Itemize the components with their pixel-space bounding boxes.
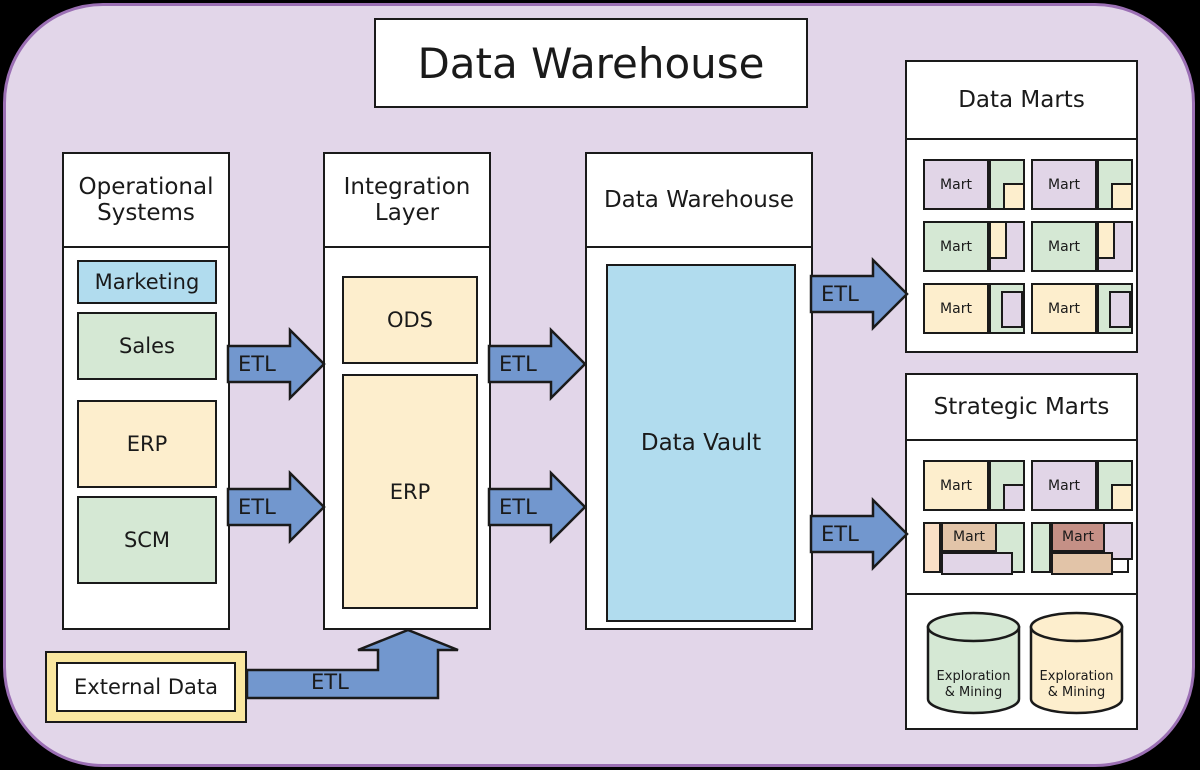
- mart-label: Mart: [1031, 283, 1097, 334]
- cylinder-label-line1: Exploration: [937, 669, 1011, 684]
- mart-bottom-block: [1051, 552, 1113, 575]
- data-warehouse-panel: Data Warehouse Data Vault: [585, 152, 813, 630]
- data-warehouse-body: Data Vault: [587, 248, 811, 628]
- diagram-canvas: Data Warehouse Operational Systems Marke…: [0, 0, 1200, 770]
- integration-layer-header: Integration Layer: [325, 154, 489, 248]
- etl-arrow-label: ETL: [499, 495, 537, 519]
- data-marts-header: Data Marts: [907, 62, 1136, 140]
- etl-arrow-integration-to-dw-bottom[interactable]: ETL: [489, 471, 587, 543]
- mart-inner: [1111, 183, 1133, 210]
- block-erp-integration[interactable]: ERP: [342, 374, 478, 609]
- mart-label: Mart: [1051, 522, 1105, 552]
- external-data-label: External Data: [56, 662, 236, 712]
- mart-label: Mart: [923, 460, 989, 511]
- mart-label: Mart: [923, 283, 989, 334]
- cylinder-label-line2: & Mining: [945, 685, 1002, 700]
- etl-arrow-label: ETL: [311, 670, 349, 694]
- page-title: Data Warehouse: [417, 39, 764, 88]
- mart-label: Mart: [923, 221, 989, 272]
- mart-label: Mart: [1031, 221, 1097, 272]
- cylinder-label-line2: & Mining: [1048, 685, 1105, 700]
- mart-left-strip: [923, 522, 941, 573]
- cylinder-exploration-mining-cream[interactable]: Exploration & Mining: [1029, 611, 1124, 715]
- mart-inner: [1111, 484, 1133, 511]
- cylinder-label: Exploration & Mining: [926, 669, 1021, 702]
- strategic-marts-header: Strategic Marts: [907, 375, 1136, 441]
- block-data-vault[interactable]: Data Vault: [606, 264, 796, 622]
- integration-layer-header-line1: Integration: [344, 174, 471, 200]
- data-marts-body: Mart Mart Mart Mart Mart: [907, 140, 1136, 351]
- block-sales[interactable]: Sales: [77, 312, 217, 380]
- mart-tile[interactable]: Mart: [1031, 283, 1129, 334]
- mart-inner: [1097, 221, 1115, 259]
- etl-arrow-dw-to-data-marts[interactable]: ETL: [811, 258, 909, 330]
- operational-systems-header-line2: Systems: [97, 200, 195, 226]
- mart-inner: [1109, 291, 1131, 328]
- strategic-marts-body: Mart Mart Mart Mart: [907, 441, 1136, 728]
- cylinder-label-line1: Exploration: [1040, 669, 1114, 684]
- mart-inner: [1003, 183, 1025, 210]
- mart-tile[interactable]: Mart: [923, 283, 1021, 334]
- mart-tile[interactable]: Mart: [1031, 522, 1129, 573]
- etl-arrow-ops-to-integration-bottom[interactable]: ETL: [228, 471, 326, 543]
- operational-systems-panel: Operational Systems Marketing Sales ERP …: [62, 152, 230, 630]
- block-marketing[interactable]: Marketing: [77, 260, 217, 304]
- etl-arrow-label: ETL: [499, 352, 537, 376]
- exploration-mining-panel: Exploration & Mining Exploration & Minin…: [907, 593, 1136, 730]
- integration-layer-header-line2: Layer: [375, 200, 439, 226]
- mart-label: Mart: [1031, 460, 1097, 511]
- data-marts-panel: Data Marts Mart Mart Mart Mart: [905, 60, 1138, 353]
- mart-tile[interactable]: Mart: [1031, 460, 1129, 511]
- mart-label: Mart: [1031, 159, 1097, 210]
- block-erp-operational[interactable]: ERP: [77, 400, 217, 488]
- mart-label: Mart: [941, 522, 997, 552]
- integration-layer-panel: Integration Layer ODS ERP: [323, 152, 491, 630]
- etl-arrow-integration-to-dw-top[interactable]: ETL: [489, 328, 587, 400]
- mart-label: Mart: [923, 159, 989, 210]
- etl-arrow-ops-to-integration-top[interactable]: ETL: [228, 328, 326, 400]
- operational-systems-header: Operational Systems: [64, 154, 228, 248]
- etl-arrow-label: ETL: [238, 352, 276, 376]
- mart-tile[interactable]: Mart: [923, 522, 1021, 573]
- mart-tile[interactable]: Mart: [923, 159, 1021, 210]
- mart-inner: [989, 221, 1007, 259]
- external-data-box[interactable]: External Data: [45, 651, 247, 723]
- mart-tile[interactable]: Mart: [923, 221, 1021, 272]
- operational-systems-header-line1: Operational: [79, 174, 214, 200]
- mart-bottom-block: [941, 552, 1013, 575]
- diagram-title-box: Data Warehouse: [374, 18, 808, 108]
- mart-left-strip: [1031, 522, 1051, 573]
- mart-tile[interactable]: Mart: [1031, 221, 1129, 272]
- mart-tile[interactable]: Mart: [923, 460, 1021, 511]
- etl-arrow-dw-to-strategic-marts[interactable]: ETL: [811, 498, 909, 570]
- etl-arrow-external-to-integration[interactable]: ETL: [247, 628, 465, 714]
- mart-tile[interactable]: Mart: [1031, 159, 1129, 210]
- operational-systems-body: Marketing Sales ERP SCM: [64, 248, 228, 628]
- cylinder-label: Exploration & Mining: [1029, 669, 1124, 702]
- etl-arrow-label: ETL: [238, 495, 276, 519]
- mart-inner: [1001, 291, 1023, 328]
- integration-layer-body: ODS ERP: [325, 248, 489, 628]
- mart-inner: [1003, 484, 1025, 511]
- cylinder-exploration-mining-green[interactable]: Exploration & Mining: [926, 611, 1021, 715]
- block-scm[interactable]: SCM: [77, 496, 217, 584]
- strategic-marts-panel: Strategic Marts Mart Mart Mart: [905, 373, 1138, 730]
- data-warehouse-header: Data Warehouse: [587, 154, 811, 248]
- etl-arrow-label: ETL: [821, 522, 859, 546]
- block-ods[interactable]: ODS: [342, 276, 478, 364]
- etl-arrow-label: ETL: [821, 282, 859, 306]
